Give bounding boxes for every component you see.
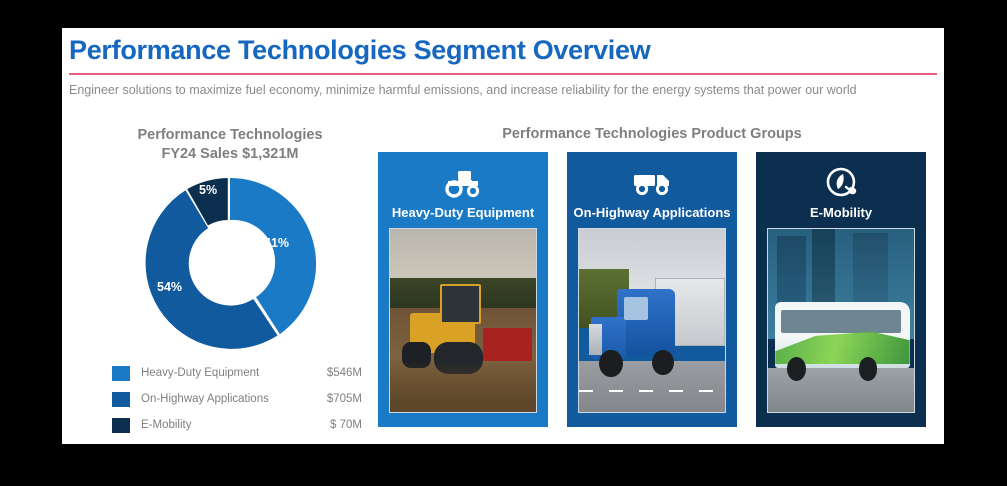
page-subtitle: Engineer solutions to maximize fuel econ… xyxy=(69,83,857,97)
legend-value-heavy-duty: $546M xyxy=(327,367,362,379)
donut-svg xyxy=(140,174,320,354)
leaf-plug-icon xyxy=(821,162,861,204)
electric-bus-city-photo xyxy=(767,228,915,413)
tractor-icon xyxy=(442,162,484,204)
chart-title-line2: FY24 Sales $1,321M xyxy=(80,145,380,164)
tractor-field-photo xyxy=(389,228,537,413)
slide-canvas: Performance Technologies Segment Overvie… xyxy=(62,28,944,444)
title-underline-rule xyxy=(69,73,937,75)
product-card-e-mobility[interactable]: E-Mobility xyxy=(756,152,926,427)
legend-label-heavy-duty: Heavy-Duty Equipment xyxy=(141,367,259,379)
product-card-heavy-duty-equipment[interactable]: Heavy-Duty Equipment xyxy=(378,152,548,427)
legend-row-on-highway[interactable]: On-Highway Applications $705M xyxy=(112,389,362,409)
product-card-label-e-mobility: E-Mobility xyxy=(810,205,872,220)
legend-swatch-e-mobility xyxy=(112,418,130,433)
sales-chart-panel: Performance Technologies FY24 Sales $1,3… xyxy=(80,126,380,431)
product-groups-panel: Performance Technologies Product Groups … xyxy=(372,126,932,436)
legend-value-on-highway: $705M xyxy=(327,393,362,405)
page-title: Performance Technologies Segment Overvie… xyxy=(69,35,650,66)
product-card-on-highway-applications[interactable]: On-Highway Applications xyxy=(567,152,737,427)
product-groups-title: Performance Technologies Product Groups xyxy=(372,126,932,142)
chart-legend: Heavy-Duty Equipment $546M On-Highway Ap… xyxy=(112,363,362,441)
chart-title: Performance Technologies FY24 Sales $1,3… xyxy=(80,126,380,164)
legend-row-heavy-duty[interactable]: Heavy-Duty Equipment $546M xyxy=(112,363,362,383)
product-card-label-heavy-duty: Heavy-Duty Equipment xyxy=(392,205,534,220)
legend-swatch-on-highway xyxy=(112,392,130,407)
legend-row-e-mobility[interactable]: E-Mobility $ 70M xyxy=(112,415,362,435)
legend-label-e-mobility: E-Mobility xyxy=(141,419,191,431)
chart-title-line1: Performance Technologies xyxy=(80,126,380,145)
legend-value-e-mobility: $ 70M xyxy=(330,419,362,431)
legend-label-on-highway: On-Highway Applications xyxy=(141,393,269,405)
semi-truck-highway-photo xyxy=(578,228,726,413)
donut-chart: 41% 54% 5% xyxy=(140,174,320,354)
truck-icon xyxy=(631,162,673,204)
product-card-label-on-highway: On-Highway Applications xyxy=(574,205,731,220)
product-cards-row: Heavy-Duty Equipment xyxy=(372,152,932,427)
legend-swatch-heavy-duty xyxy=(112,366,130,381)
